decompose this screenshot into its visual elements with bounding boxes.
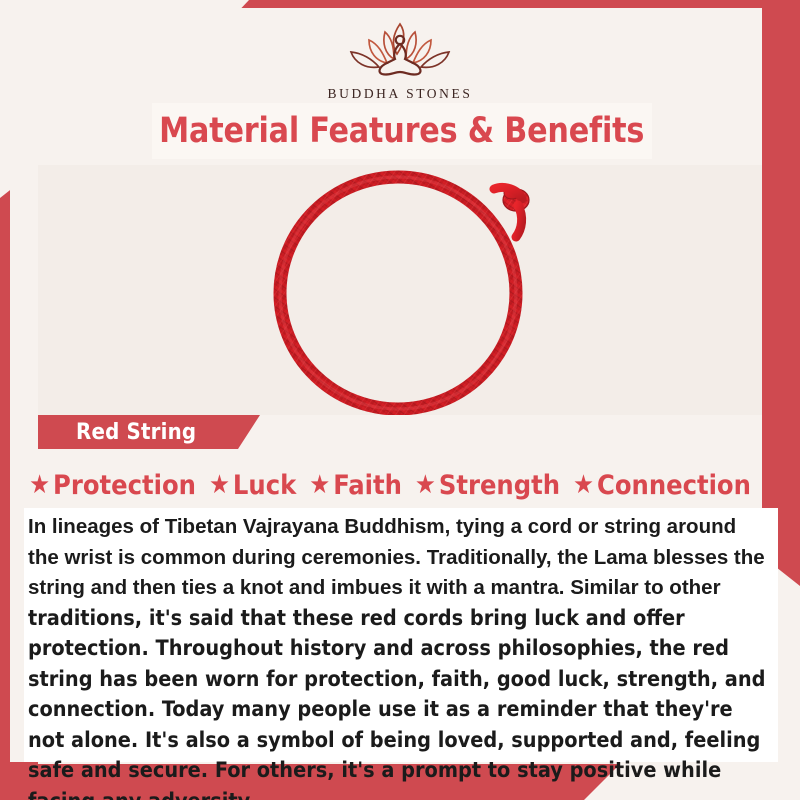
description-tail: traditions, it's said that these red cor… [28,606,765,800]
star-icon: ★ [209,472,230,498]
benefit-item-faith: ★ Faith [309,470,402,501]
description-paragraph: In lineages of Tibetan Vajrayana Buddhis… [24,508,778,800]
brand-logo: BUDDHA STONES [0,14,800,102]
benefit-label: Strength [439,470,560,501]
benefit-label: Protection [53,470,196,501]
benefit-item-strength: ★ Strength [415,470,560,501]
title-banner: Material Features & Benefits [152,103,652,159]
red-string-bracelet-image [250,165,550,415]
brand-name: BUDDHA STONES [328,86,473,102]
star-icon: ★ [415,472,436,498]
benefit-label: Luck [233,470,296,501]
star-icon: ★ [29,472,50,498]
description-box: In lineages of Tibetan Vajrayana Buddhis… [24,508,778,762]
material-label-ribbon: Red String [38,415,260,449]
star-icon: ★ [573,472,594,498]
benefit-item-luck: ★ Luck [209,470,296,501]
material-label: Red String [76,420,196,445]
star-icon: ★ [309,472,330,498]
benefits-row: ★ Protection ★ Luck ★ Faith ★ Strength ★… [24,466,756,504]
product-photo [38,165,762,415]
page-title: Material Features & Benefits [159,111,644,151]
infographic-page: BUDDHA STONES Material Features & Benefi… [0,0,800,800]
benefit-item-protection: ★ Protection [29,470,196,501]
benefit-label: Faith [333,470,402,501]
benefit-label: Connection [597,470,751,501]
lotus-meditation-icon [325,14,475,84]
benefit-item-connection: ★ Connection [573,470,751,501]
description-lead: In lineages of Tibetan Vajrayana Buddhis… [28,515,765,599]
